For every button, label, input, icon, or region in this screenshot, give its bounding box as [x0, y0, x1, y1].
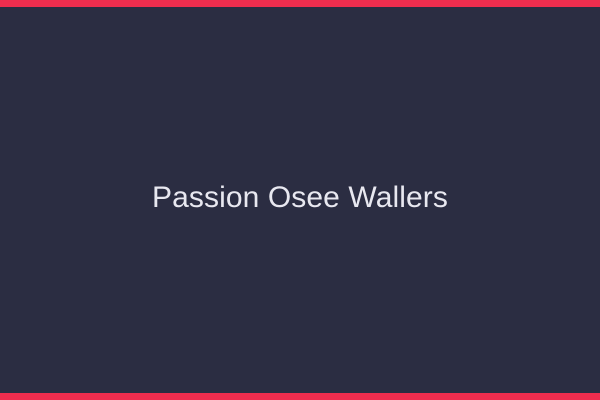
bottom-accent-bar	[0, 393, 600, 400]
placeholder-title: Passion Osee Wallers	[152, 181, 448, 214]
placeholder-card: Passion Osee Wallers	[0, 0, 600, 400]
top-accent-bar	[0, 0, 600, 7]
